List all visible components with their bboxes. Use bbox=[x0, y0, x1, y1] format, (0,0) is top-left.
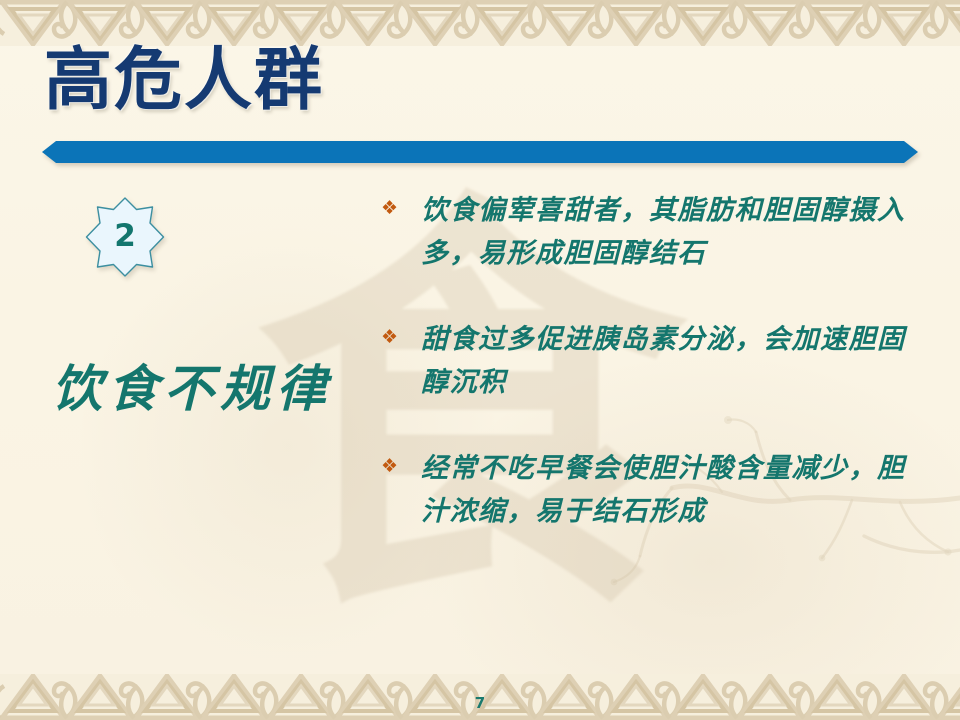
list-item: ❖ 经常不吃早餐会使胆汁酸含量减少，胆汁浓缩，易于结石形成 bbox=[381, 447, 921, 533]
slide: 食 bbox=[0, 0, 960, 720]
section-number-label: 2 bbox=[84, 196, 166, 278]
list-item: ❖ 饮食偏荤喜甜者，其脂肪和胆固醇摄入多，易形成胆固醇结石 bbox=[381, 189, 921, 275]
diamond-bullet-icon: ❖ bbox=[381, 189, 421, 225]
section-number-badge: 2 bbox=[84, 196, 166, 278]
section-subtitle: 饮食不规律 bbox=[52, 349, 372, 421]
banner-bar-fill bbox=[42, 141, 918, 163]
list-item-text: 经常不吃早餐会使胆汁酸含量减少，胆汁浓缩，易于结石形成 bbox=[421, 447, 921, 533]
banner-divider-bar bbox=[42, 141, 918, 163]
page-number: 7 bbox=[0, 694, 960, 712]
list-item-text: 甜食过多促进胰岛素分泌，会加速胆固醇沉积 bbox=[421, 318, 921, 404]
bullet-list: ❖ 饮食偏荤喜甜者，其脂肪和胆固醇摄入多，易形成胆固醇结石 ❖ 甜食过多促进胰岛… bbox=[381, 189, 921, 576]
list-item-text: 饮食偏荤喜甜者，其脂肪和胆固醇摄入多，易形成胆固醇结石 bbox=[421, 189, 921, 275]
diamond-bullet-icon: ❖ bbox=[381, 318, 421, 354]
page-title: 高危人群 bbox=[44, 24, 324, 123]
diamond-bullet-icon: ❖ bbox=[381, 447, 421, 483]
list-item: ❖ 甜食过多促进胰岛素分泌，会加速胆固醇沉积 bbox=[381, 318, 921, 404]
